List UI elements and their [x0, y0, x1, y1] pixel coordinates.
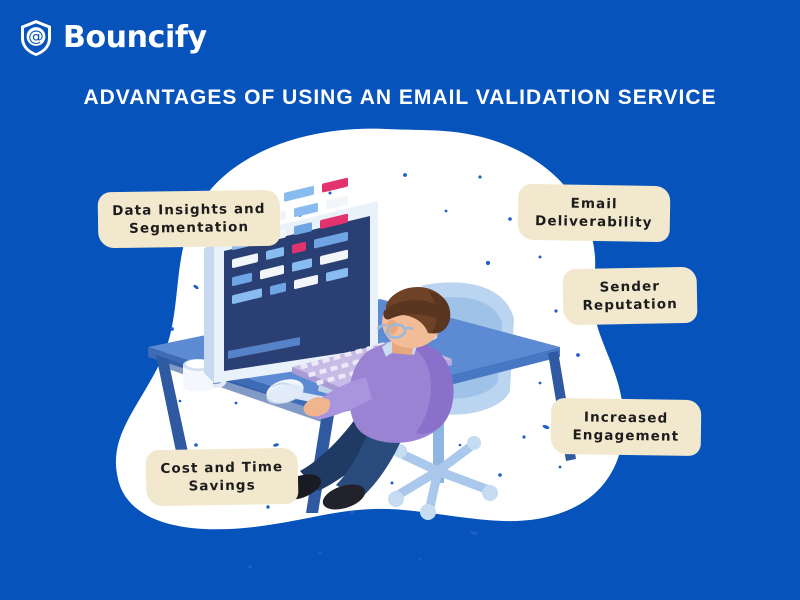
- brand-name: Bouncify: [63, 23, 207, 53]
- brand-logo: @ Bouncify: [18, 18, 207, 58]
- illustration-stage: [0, 115, 800, 585]
- page-title: ADVANTAGES OF USING AN EMAIL VALIDATION …: [0, 86, 800, 110]
- desk-scene-illustration: [0, 115, 800, 585]
- callout-cost-and-time-savings[interactable]: Cost and Time Savings: [146, 448, 299, 507]
- svg-text:@: @: [28, 28, 44, 46]
- callout-sender-reputation[interactable]: Sender Reputation: [562, 267, 697, 326]
- callout-increased-engagement[interactable]: Increased Engagement: [551, 398, 702, 457]
- callout-data-insights-and-segmentation[interactable]: Data Insights and Segmentation: [98, 190, 281, 249]
- callout-email-deliverability[interactable]: Email Deliverability: [518, 184, 671, 243]
- shield-at-icon: @: [18, 18, 54, 58]
- infographic-canvas: @ Bouncify ADVANTAGES OF USING AN EMAIL …: [0, 0, 800, 600]
